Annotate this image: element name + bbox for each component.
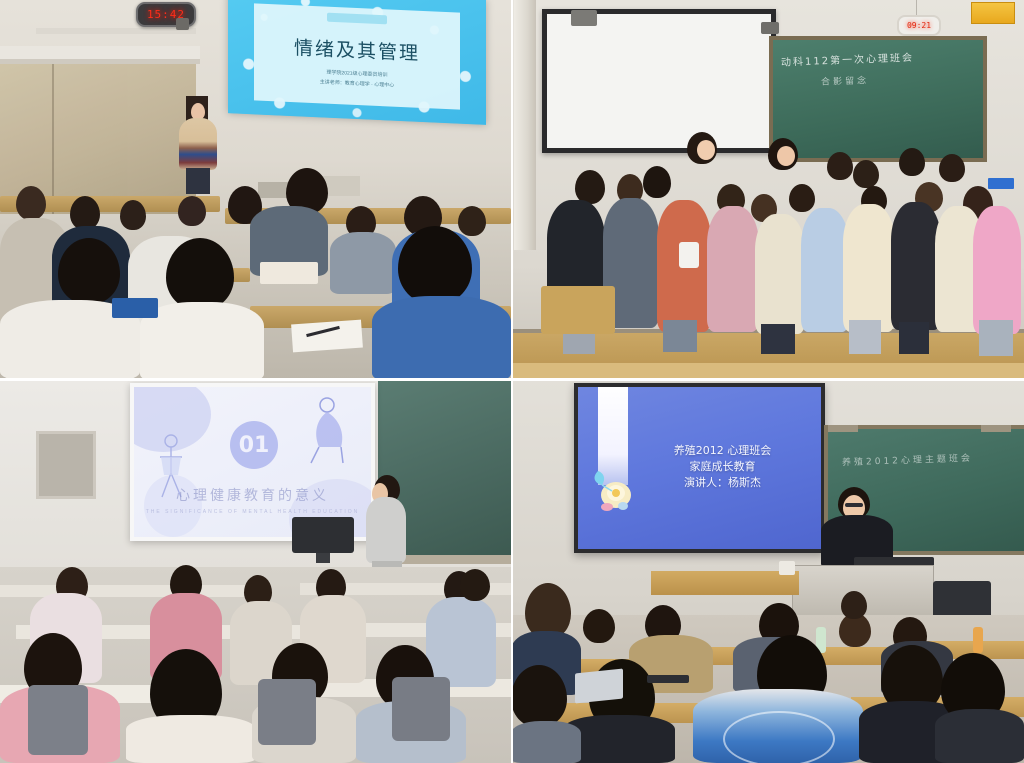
collage-divider-horizontal [0, 378, 1024, 381]
foreground-student-head [511, 665, 567, 727]
whiteboard-screen [542, 9, 776, 153]
phone [647, 675, 689, 683]
panel-top-left: 15:42 情绪及其管理 理学院2021级心理委员培训 主讲老师：教育心理学 ·… [0, 0, 511, 379]
presenter-hoodie [366, 497, 406, 563]
chair [28, 685, 88, 755]
slide-card: 情绪及其管理 理学院2021级心理委员培训 主讲老师：教育心理学 · 心理中心 [254, 3, 460, 109]
student-body [973, 206, 1021, 334]
front-desk [651, 571, 799, 595]
desk-row [0, 585, 260, 597]
student-legs [761, 324, 795, 354]
slide-text-block: 养殖2012 心理班会 家庭成长教育 演讲人：杨斯杰 [630, 443, 815, 491]
student-head [939, 154, 965, 182]
panel-top-right: 动科112第一次心理班会 合影留念 09:21 [511, 0, 1024, 379]
water-bottle [973, 627, 983, 653]
student-head [841, 591, 867, 619]
collage-divider-vertical [511, 0, 513, 763]
foreground-student-head [398, 226, 472, 304]
panel-bottom-right: 养殖2012 心理班会 家庭成长教育 演讲人：杨斯杰 养殖2012心理主题班会 [511, 379, 1024, 763]
wall-sign [971, 2, 1015, 24]
foreground-student-body [935, 709, 1024, 763]
water-bottle [779, 561, 795, 575]
student-head [575, 170, 605, 204]
glasses-icon [845, 503, 863, 507]
slide-title: 心理健康教育的意义 [134, 485, 371, 505]
student-body [330, 232, 396, 294]
blue-notebook [112, 298, 158, 318]
student-head [789, 184, 815, 212]
foreground-student-body [140, 302, 264, 379]
student-head [458, 206, 486, 236]
presenter-skirt [186, 168, 210, 194]
ceiling-beam [0, 46, 200, 59]
student-body [426, 597, 496, 687]
student-head [70, 196, 100, 230]
foreground-student-body [372, 296, 511, 379]
student-legs [849, 320, 881, 354]
slide-line-1: 养殖2012 心理班会 [630, 443, 815, 459]
student-legs [663, 320, 697, 352]
student-head [853, 160, 879, 188]
slide-illustration-right [297, 395, 347, 471]
slide-line-3: 演讲人：杨斯杰 [630, 475, 815, 491]
foreground-student-body [126, 715, 256, 763]
paper-sheet [260, 262, 318, 284]
board-clip [981, 425, 1011, 432]
monitor [292, 517, 354, 553]
chair [258, 679, 316, 745]
projector-icon [761, 22, 779, 34]
student-body [843, 204, 895, 332]
student-head [120, 200, 146, 230]
student-head [899, 148, 925, 176]
foreground-student-head [58, 238, 120, 304]
student-head [16, 186, 46, 220]
student-head [460, 569, 490, 601]
wall-cabinet [36, 431, 96, 499]
slide-line-2: 家庭成长教育 [630, 459, 815, 475]
slide-section-number: 01 [239, 433, 270, 458]
slide-section-badge: 01 [230, 421, 278, 469]
projection-screen: 养殖2012 心理班会 家庭成长教育 演讲人：杨斯杰 [574, 383, 825, 553]
student-legs [979, 320, 1013, 356]
student-body [801, 208, 849, 332]
floor-edge [511, 363, 1024, 379]
chalkboard-text-line2: 合影留念 [821, 73, 869, 87]
student-body [755, 214, 805, 334]
wall-speaker-icon [571, 10, 597, 26]
board-clip [828, 425, 858, 432]
laptop [575, 668, 623, 703]
digital-clock: 09:21 [897, 15, 941, 36]
chalkboard: 动科112第一次心理班会 合影留念 [769, 36, 987, 162]
paper-sheet [291, 320, 363, 353]
student-head [827, 152, 853, 180]
photo-collage: 15:42 情绪及其管理 理学院2021级心理委员培训 主讲老师：教育心理学 ·… [0, 0, 1024, 763]
panel-bottom-left: 01 心理健康教育的意义 THE SIGNIFICANCE OF MENTAL … [0, 379, 511, 763]
monitor-stand [316, 553, 330, 563]
slide-tag-icon [327, 13, 387, 25]
digital-clock-value: 09:21 [907, 21, 931, 30]
student-head [643, 166, 671, 198]
student-face [697, 140, 715, 160]
wall-column [514, 0, 536, 250]
chair [541, 286, 615, 334]
student-face [777, 146, 795, 166]
foreground-student-body [511, 721, 581, 763]
wall-speaker-icon [176, 18, 189, 30]
chalkboard-text-line1: 动科112第一次心理班会 [781, 46, 978, 74]
student-head [583, 609, 615, 643]
foreground-student-head [166, 238, 234, 310]
held-paper [679, 242, 699, 268]
student-body [891, 202, 941, 330]
clock-cord [916, 0, 917, 16]
student-body [707, 206, 759, 332]
slide-subtitle: THE SIGNIFICANCE OF MENTAL HEALTH EDUCAT… [134, 509, 371, 515]
chair [392, 677, 450, 741]
student-legs [899, 322, 929, 354]
student-head [178, 196, 206, 226]
slide-title: 情绪及其管理 [254, 31, 460, 67]
presenter-sweater [179, 118, 217, 170]
door-plate [988, 178, 1014, 189]
projection-screen: 情绪及其管理 理学院2021级心理委员培训 主讲老师：教育心理学 · 心理中心 [228, 0, 486, 125]
ceiling-beam-upper [36, 28, 196, 34]
chalkboard-text: 养殖2012心理主题班会 [842, 451, 973, 469]
jacket-logo [723, 711, 835, 763]
